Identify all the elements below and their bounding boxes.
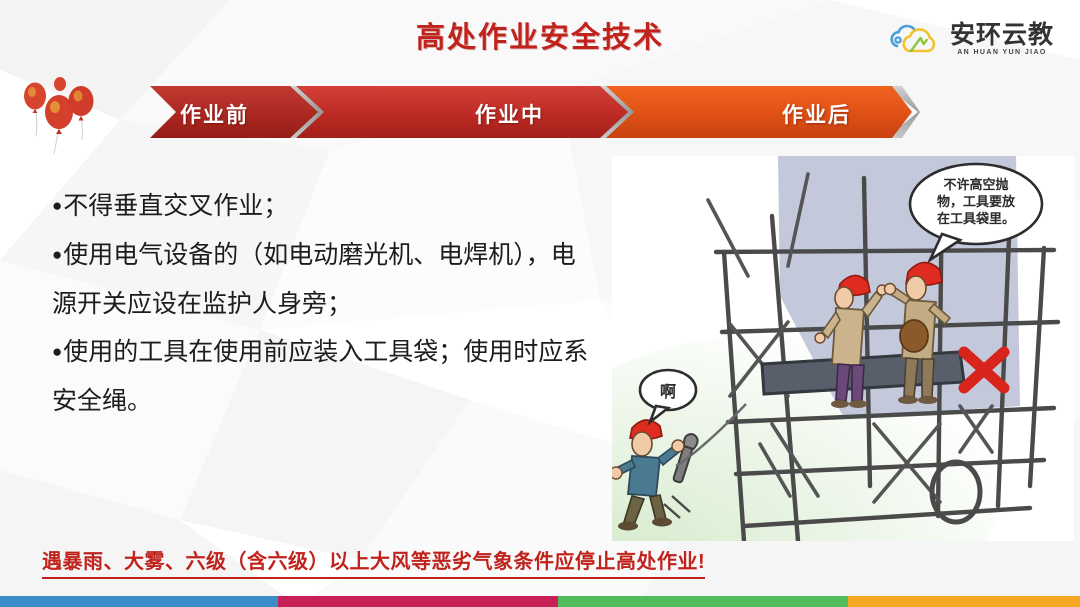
- bullet-item: ●使用的工具在使用前应装入工具袋；使用时应系安全绳。: [52, 328, 592, 426]
- bullet-text: 不得垂直交叉作业；: [63, 192, 288, 220]
- banner-segment-2: [606, 86, 912, 138]
- svg-text:不许高空抛: 不许高空抛: [943, 177, 1008, 192]
- svg-text:啊: 啊: [660, 383, 676, 401]
- colorbar-segment-magenta: [278, 596, 558, 607]
- colorbar-segment-blue: [0, 596, 278, 607]
- safety-illustration: 不许高空抛 物，工具要放 在工具袋里。: [612, 156, 1074, 541]
- bullet-marker: ●: [52, 196, 62, 215]
- brand-logo: 安环云教 AN HUAN YUN JIAO: [889, 20, 1054, 58]
- tool-bag: [900, 320, 928, 352]
- bullet-text: 使用电气设备的（如电动磨光机、电焊机），电源开关应设在监护人身旁；: [52, 241, 576, 318]
- warning-text: 遇暴雨、大雾、六级（含六级）以上大风等恶劣气象条件应停止高处作业!: [42, 545, 705, 579]
- bullet-item: ●使用电气设备的（如电动磨光机、电焊机），电源开关应设在监护人身旁；: [52, 231, 592, 329]
- banner-label-after[interactable]: 作业后: [782, 99, 851, 129]
- banner-label-during[interactable]: 作业中: [475, 99, 544, 129]
- colorbar-segment-orange: [848, 596, 1080, 607]
- logo-name-en: AN HUAN YUN JIAO: [957, 49, 1047, 56]
- slide-root: 高处作业安全技术 安环云教 AN HUAN YUN JIAO: [0, 0, 1080, 607]
- bullet-marker: ●: [52, 342, 62, 361]
- bullet-item: ●不得垂直交叉作业；: [52, 182, 592, 231]
- bullet-marker: ●: [52, 245, 62, 264]
- bottom-color-bar: [0, 596, 1080, 607]
- cloud-icon: [889, 20, 941, 58]
- svg-text:在工具袋里。: 在工具袋里。: [937, 211, 1015, 226]
- bullet-text: 使用的工具在使用前应装入工具袋；使用时应系安全绳。: [52, 338, 588, 415]
- svg-text:物，工具要放: 物，工具要放: [937, 194, 1016, 209]
- process-banner: 作业前 作业中 作业后: [150, 86, 920, 138]
- banner-label-before[interactable]: 作业前: [180, 99, 249, 129]
- logo-name-cn: 安环云教: [950, 22, 1054, 48]
- content-bullets: ●不得垂直交叉作业； ●使用电气设备的（如电动磨光机、电焊机），电源开关应设在监…: [52, 182, 592, 426]
- balloons-icon: [2, 58, 110, 166]
- colorbar-segment-green: [558, 596, 848, 607]
- banner-segment-1: [296, 86, 628, 138]
